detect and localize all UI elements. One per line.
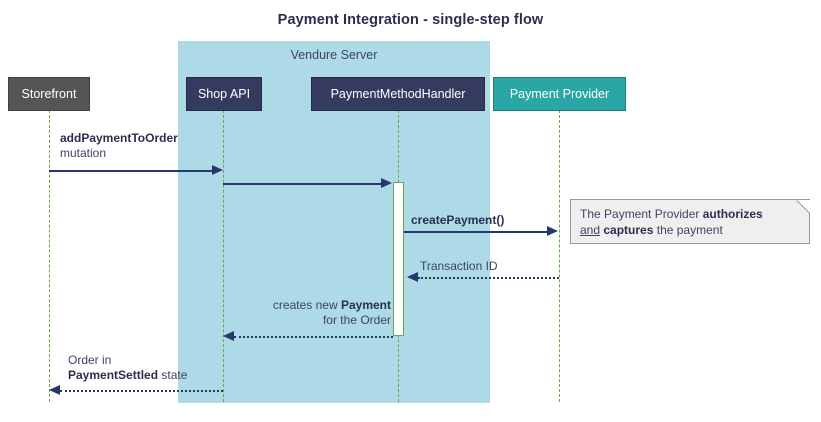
participant-payment-provider[interactable]: Payment Provider (493, 77, 626, 111)
note-line2-post: the payment (653, 223, 722, 237)
participant-payment-method-handler[interactable]: PaymentMethodHandler (311, 77, 485, 111)
message-label-transaction-id: Transaction ID (420, 259, 498, 274)
message-arrowhead-create-payment (547, 226, 558, 236)
message-label-order-payment-settled-line1: Order in (68, 353, 111, 367)
message-arrowhead-shop-api-to-handler (381, 178, 392, 188)
message-label-order-payment-settled-bold: PaymentSettled (68, 368, 158, 382)
message-arrow-add-payment-to-order (49, 170, 213, 172)
note-line2-bold: captures (603, 223, 653, 237)
message-label-creates-new-payment: creates new Payment for the Order (180, 298, 391, 327)
diagram-title: Payment Integration - single-step flow (0, 12, 821, 28)
message-label-add-payment-to-order-line1: addPaymentToOrder (60, 131, 178, 145)
lifeline-payment-provider (559, 110, 560, 402)
message-arrow-create-payment (404, 231, 548, 233)
participant-payment-method-handler-label: PaymentMethodHandler (331, 87, 466, 101)
note-line1-bold: authorizes (703, 207, 763, 221)
participant-storefront[interactable]: Storefront (8, 77, 90, 111)
message-label-creates-new-payment-pre: creates new (273, 298, 341, 312)
participant-storefront-label: Storefront (22, 87, 77, 101)
message-label-add-payment-to-order-line2: mutation (60, 146, 106, 160)
message-label-creates-new-payment-line2: for the Order (323, 313, 391, 327)
message-arrow-creates-new-payment (234, 336, 393, 338)
note-line2-underline: and (580, 223, 600, 237)
message-label-create-payment: createPayment() (411, 213, 504, 228)
message-arrowhead-creates-new-payment (223, 331, 234, 341)
message-label-order-payment-settled: Order in PaymentSettled state (68, 353, 187, 382)
message-label-creates-new-payment-bold: Payment (341, 298, 391, 312)
message-label-add-payment-to-order: addPaymentToOrder mutation (60, 131, 178, 160)
participant-payment-provider-label: Payment Provider (510, 87, 609, 101)
message-label-order-payment-settled-post: state (158, 368, 187, 382)
note-line1-pre: The Payment Provider (580, 207, 703, 221)
message-arrowhead-add-payment-to-order (212, 165, 223, 175)
message-arrow-order-payment-settled (60, 390, 223, 392)
sequence-diagram: Payment Integration - single-step flow V… (0, 0, 821, 422)
message-label-create-payment-line1: createPayment() (411, 213, 504, 227)
vendure-server-label: Vendure Server (178, 48, 490, 62)
message-arrowhead-transaction-id (407, 272, 418, 282)
message-arrow-transaction-id (418, 277, 559, 279)
note-line-2: and captures the payment (580, 223, 723, 237)
participant-shop-api[interactable]: Shop API (186, 77, 262, 111)
note-payment-provider: The Payment Provider authorizes and capt… (570, 199, 810, 244)
message-arrow-shop-api-to-handler (223, 183, 382, 185)
lifeline-storefront (49, 110, 50, 402)
participant-shop-api-label: Shop API (198, 87, 250, 101)
message-label-transaction-id-line1: Transaction ID (420, 259, 498, 273)
lifeline-shop-api (223, 110, 224, 402)
message-arrowhead-order-payment-settled (49, 385, 60, 395)
note-line-1: The Payment Provider authorizes (580, 207, 763, 221)
activation-bar-payment-method-handler (393, 182, 404, 336)
